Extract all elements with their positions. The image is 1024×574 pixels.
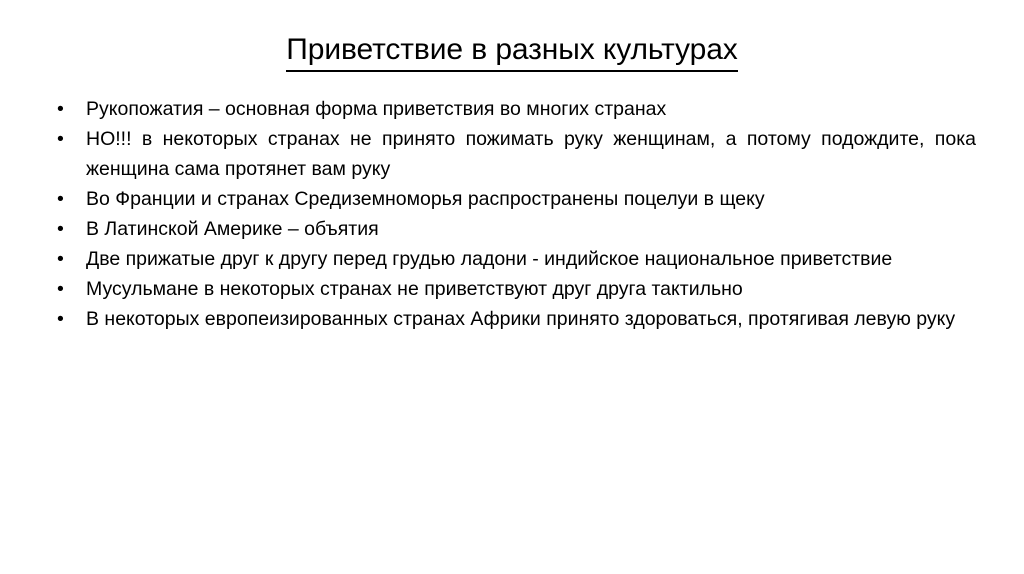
presentation-slide: Приветствие в разных культурах • Рукопож…	[0, 0, 1024, 574]
bullet-marker-icon: •	[57, 184, 71, 214]
bullet-marker-icon: •	[57, 124, 71, 154]
bullet-marker-icon: •	[57, 94, 71, 124]
list-item: • В некоторых европеизированных странах …	[50, 304, 976, 334]
list-item-text: Две прижатые друг к другу перед грудью л…	[86, 244, 976, 274]
bullet-marker-icon: •	[57, 244, 71, 274]
list-item: • Две прижатые друг к другу перед грудью…	[50, 244, 976, 274]
list-item: • Рукопожатия – основная форма приветств…	[50, 94, 976, 124]
bullet-marker-icon: •	[57, 304, 71, 334]
list-item-text: Рукопожатия – основная форма приветствия…	[86, 94, 976, 124]
bullet-marker-icon: •	[57, 274, 71, 304]
list-item-text: НО!!! в некоторых странах не принято пож…	[86, 124, 976, 184]
list-item: • Мусульмане в некоторых странах не прив…	[50, 274, 976, 304]
list-item: • Во Франции и странах Средиземноморья р…	[50, 184, 976, 214]
list-item: • НО!!! в некоторых странах не принято п…	[50, 124, 976, 184]
slide-title-text: Приветствие в разных культурах	[286, 31, 737, 72]
bullet-marker-icon: •	[57, 214, 71, 244]
list-item-text: В некоторых европеизированных странах Аф…	[86, 304, 976, 334]
bullet-list: • Рукопожатия – основная форма приветств…	[50, 94, 976, 334]
slide-title: Приветствие в разных культурах	[0, 31, 1024, 72]
list-item: • В Латинской Америке – объятия	[50, 214, 976, 244]
list-item-text: В Латинской Америке – объятия	[86, 214, 976, 244]
list-item-text: Мусульмане в некоторых странах не привет…	[86, 274, 976, 304]
list-item-text: Во Франции и странах Средиземноморья рас…	[86, 184, 976, 214]
